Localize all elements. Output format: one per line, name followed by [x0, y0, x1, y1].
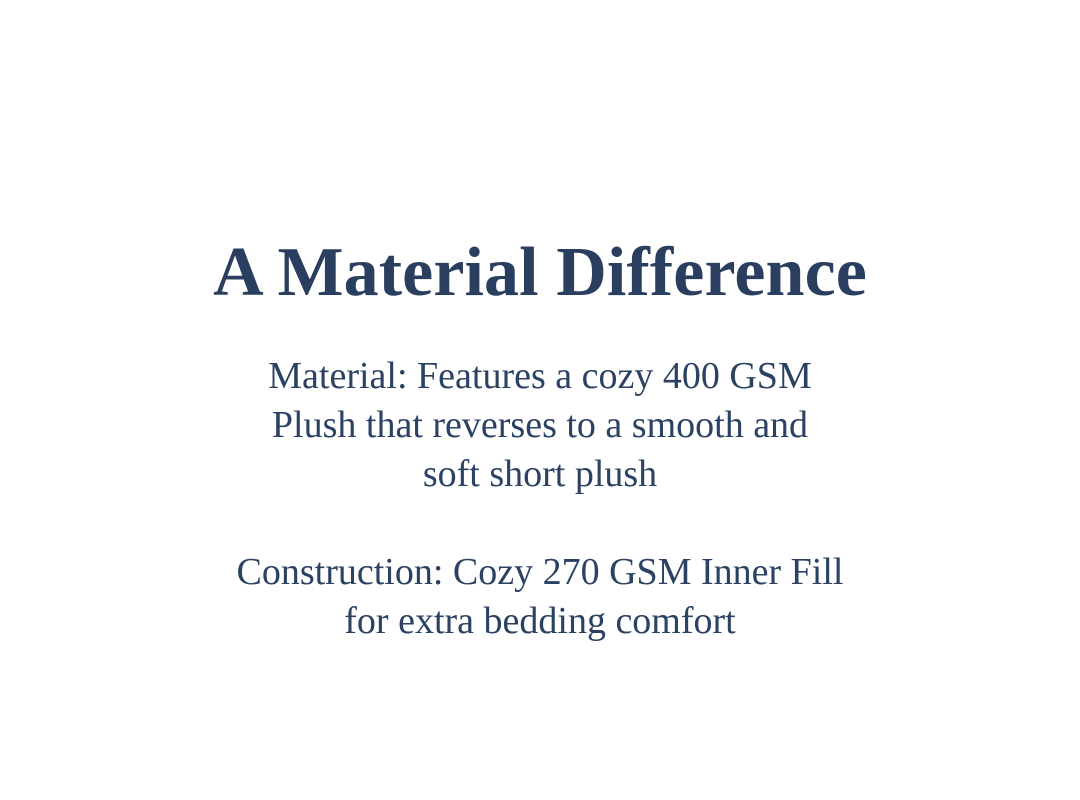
- material-line-3: soft short plush: [90, 450, 990, 499]
- page-title: A Material Difference: [40, 234, 1040, 312]
- material-line-1: Material: Features a cozy 400 GSM: [90, 352, 990, 401]
- material-line-2: Plush that reverses to a smooth and: [90, 401, 990, 450]
- product-feature-slide: A Material Difference Material: Features…: [0, 0, 1080, 800]
- construction-paragraph: Construction: Cozy 270 GSM Inner Fill fo…: [90, 548, 990, 646]
- construction-line-2: for extra bedding comfort: [90, 597, 990, 646]
- construction-line-1: Construction: Cozy 270 GSM Inner Fill: [90, 548, 990, 597]
- slide-body: Material: Features a cozy 400 GSM Plush …: [90, 352, 990, 646]
- paragraph-spacer: [90, 499, 990, 548]
- material-paragraph: Material: Features a cozy 400 GSM Plush …: [90, 352, 990, 499]
